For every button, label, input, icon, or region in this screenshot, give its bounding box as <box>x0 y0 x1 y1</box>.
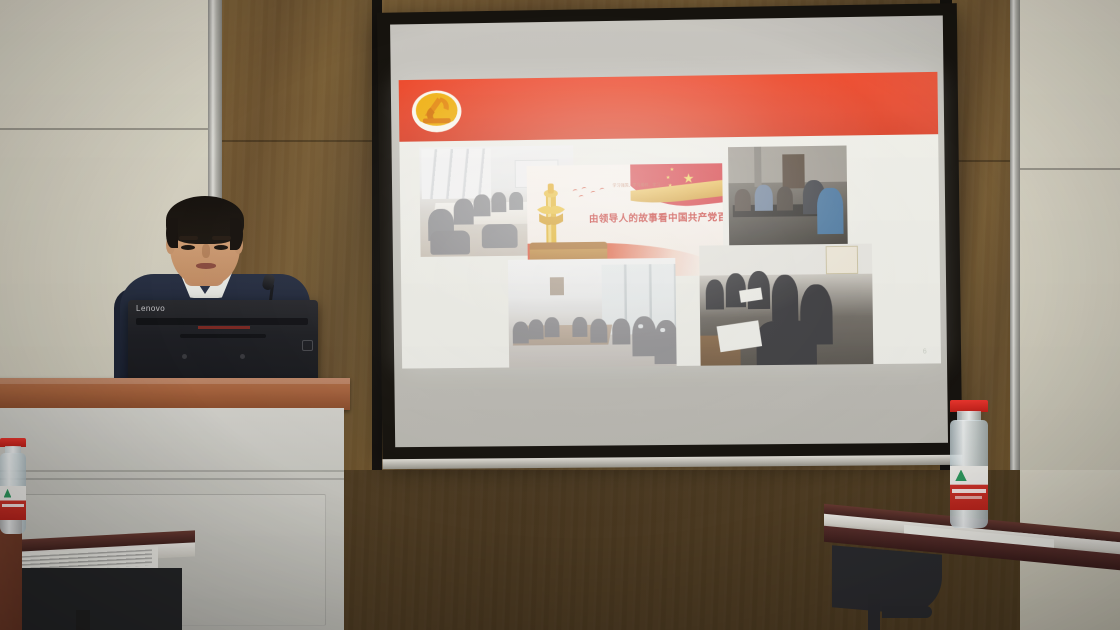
monitor-port <box>302 340 313 351</box>
slide-header-band <box>399 72 939 142</box>
bottle-label <box>0 486 26 520</box>
mic-capsule <box>261 273 276 291</box>
photo-wash <box>728 146 848 248</box>
monitor-accent-stripe <box>198 326 250 329</box>
slide-photo-computer-lab <box>728 146 848 248</box>
monitor-screw <box>182 354 187 359</box>
podium-monitor[interactable]: Lenovo <box>128 300 318 390</box>
eyebrow-right <box>212 236 231 240</box>
table-leg <box>882 606 932 618</box>
lectern-top-highlight <box>0 378 350 384</box>
lenovo-logo: Lenovo <box>136 304 165 313</box>
mouth <box>196 263 216 269</box>
photo-wash <box>699 244 873 369</box>
screen-surface: ★ ★ ★ ★ ★ <box>390 15 948 447</box>
lectern-seam <box>0 478 344 480</box>
wall-trim-vertical-2 <box>1010 0 1020 470</box>
hair-side-left <box>166 218 178 248</box>
bottle-label <box>950 466 988 510</box>
eye-left <box>181 245 195 250</box>
eyebrow-left <box>179 236 198 240</box>
table-leg <box>76 610 90 630</box>
water-bottle-right <box>950 400 988 528</box>
bottle-mountain-logo <box>955 470 966 481</box>
nose <box>202 244 210 258</box>
conference-table-right <box>824 510 1120 630</box>
bottle-sub-text <box>955 496 982 499</box>
bottle-mountain-logo <box>4 489 12 498</box>
wall-panel-cream-right <box>1020 0 1120 520</box>
cpc-party-emblem-icon <box>411 85 463 134</box>
eye-right <box>214 245 228 250</box>
presentation-room-photo: ★ ★ ★ ★ ★ <box>0 0 1120 630</box>
table-modesty-panel <box>2 568 182 630</box>
wall-seam <box>1020 168 1120 170</box>
wall-seam <box>0 128 208 130</box>
table-leg <box>868 594 880 630</box>
slide-photo-meeting-2 <box>508 258 677 369</box>
photo-wash <box>508 258 677 369</box>
band-highlight <box>775 72 939 137</box>
projected-slide: ★ ★ ★ ★ ★ <box>399 72 941 369</box>
slide-page-number: 6 <box>923 348 927 355</box>
wall-seam <box>952 160 1010 162</box>
water-bottle-left <box>0 438 26 534</box>
bottle-brand-text <box>952 489 985 493</box>
monitor-screw <box>240 354 245 359</box>
monitor-vent-slot <box>136 318 308 325</box>
projection-screen: ★ ★ ★ ★ ★ <box>377 3 962 460</box>
monitor-vent <box>180 334 266 338</box>
lectern-top-rail <box>0 378 350 410</box>
wall-seam <box>222 140 372 142</box>
lectern-seam <box>0 470 344 472</box>
bottle-brand-text <box>2 504 25 507</box>
hair-side-right <box>230 218 243 250</box>
slide-photo-audience <box>699 244 873 369</box>
conference-table-left <box>0 524 195 630</box>
